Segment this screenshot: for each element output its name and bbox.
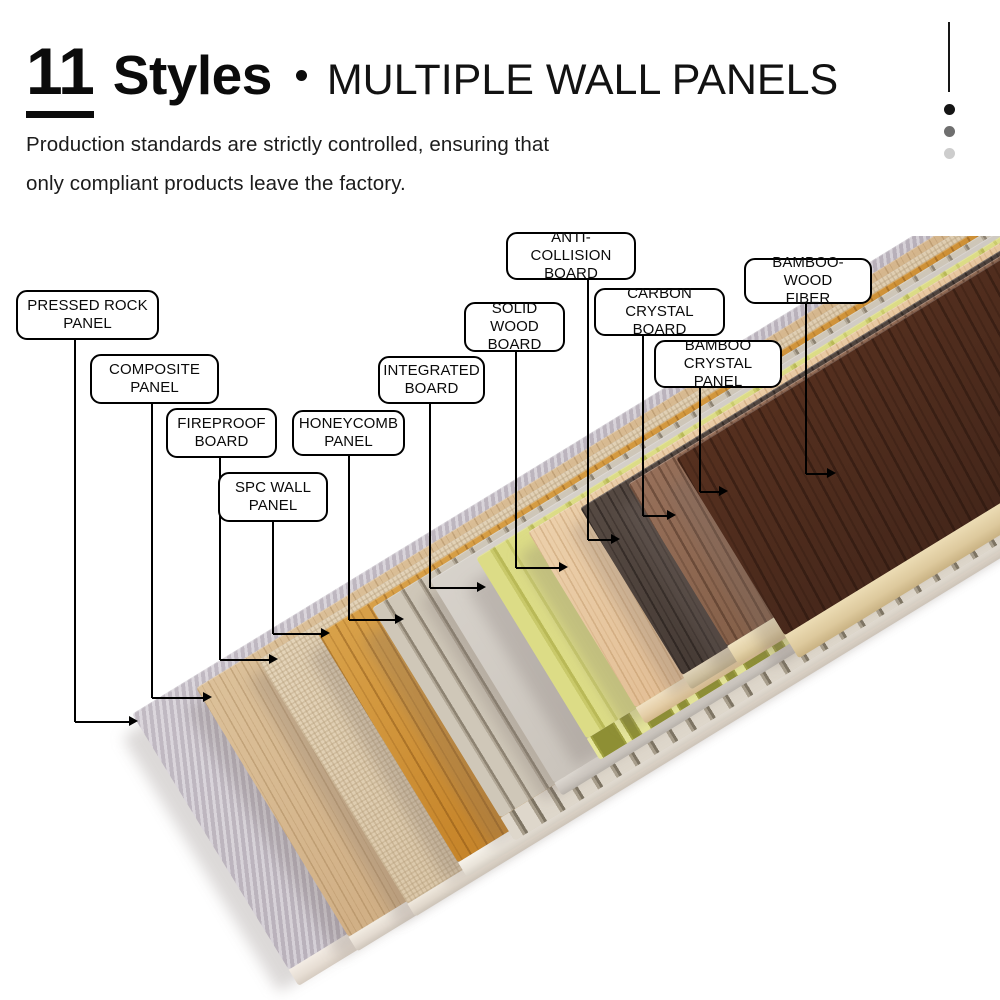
- callout-carbon-crystal-board[interactable]: CARBON CRYSTALBOARD: [594, 288, 725, 336]
- callout-label-line-2: PANEL: [299, 433, 398, 451]
- leader-arrowhead: [667, 510, 676, 520]
- count-underline: [26, 111, 94, 118]
- leader-arrowhead: [477, 582, 486, 592]
- header: 11 Styles MULTIPLE WALL PANELS Productio…: [0, 0, 1000, 210]
- page-title: 11 Styles MULTIPLE WALL PANELS: [26, 38, 838, 104]
- leader-arrowhead: [719, 486, 728, 496]
- decorative-dot-1: [944, 104, 955, 115]
- callout-label: HONEYCOMBPANEL: [294, 415, 403, 452]
- leader-arrowhead: [611, 534, 620, 544]
- callout-label: SOLID WOODBOARD: [466, 300, 563, 355]
- callout-label: FIREPROOFBOARD: [172, 415, 270, 452]
- leader-line-horizontal: [643, 515, 667, 517]
- leader-line-vertical: [74, 340, 76, 722]
- callout-label-line-1: CARBON CRYSTAL: [601, 285, 718, 322]
- subtitle-line-1: Production standards are strictly contro…: [26, 133, 549, 157]
- decorative-dots: [944, 22, 968, 182]
- leader-line-vertical: [587, 280, 589, 540]
- leader-arrowhead: [269, 654, 278, 664]
- callout-label-line-1: ANTI-COLLISION: [513, 229, 629, 266]
- style-count: 11: [26, 34, 94, 108]
- callout-label-line-1: SOLID WOOD: [471, 300, 558, 337]
- callout-label-line-2: BOARD: [513, 265, 629, 283]
- leader-arrowhead: [203, 692, 212, 702]
- leader-line-horizontal: [273, 633, 321, 635]
- leader-line-horizontal: [75, 721, 129, 723]
- callout-composite-panel[interactable]: COMPOSITEPANEL: [90, 354, 219, 404]
- callout-label: BAMBOO-WOODFIBER: [746, 254, 870, 309]
- callout-label-line-2: PANEL: [235, 497, 311, 515]
- callout-bamboo-wood-fiber[interactable]: BAMBOO-WOODFIBER: [744, 258, 872, 304]
- callout-label: PRESSED ROCKPANEL: [22, 297, 152, 334]
- decorative-dot-2: [944, 126, 955, 137]
- leader-arrowhead: [559, 562, 568, 572]
- leader-line-horizontal: [220, 659, 269, 661]
- callout-label: COMPOSITEPANEL: [104, 361, 205, 398]
- callout-label-line-1: HONEYCOMB: [299, 415, 398, 433]
- dot-separator-icon: [296, 70, 307, 81]
- callout-anti-collision-board[interactable]: ANTI-COLLISIONBOARD: [506, 232, 636, 280]
- leader-line-vertical: [805, 304, 807, 474]
- leader-line-horizontal: [806, 473, 827, 475]
- callout-label-line-2: BOARD: [383, 380, 480, 398]
- callout-label-line-1: PRESSED ROCK: [27, 297, 147, 315]
- style-count-wrap: 11: [26, 38, 94, 104]
- leader-line-horizontal: [516, 567, 559, 569]
- leader-line-vertical: [348, 456, 350, 620]
- leader-line-horizontal: [700, 491, 719, 493]
- leader-line-horizontal: [588, 539, 611, 541]
- callout-label: INTEGRATEDBOARD: [378, 362, 485, 399]
- subtitle-line-2: only compliant products leave the factor…: [26, 172, 406, 196]
- leader-arrowhead: [395, 614, 404, 624]
- callout-label-line-2: PANEL: [27, 315, 147, 333]
- leader-line-horizontal: [349, 619, 395, 621]
- leader-line-horizontal: [430, 587, 477, 589]
- callout-fireproof-board[interactable]: FIREPROOFBOARD: [166, 408, 277, 458]
- decorative-dot-3: [944, 148, 955, 159]
- leader-line-vertical: [429, 404, 431, 588]
- callout-label: SPC WALLPANEL: [230, 479, 316, 516]
- leader-line-vertical: [642, 336, 644, 516]
- callout-label-line-1: BAMBOO: [661, 337, 775, 355]
- callout-pressed-rock-panel[interactable]: PRESSED ROCKPANEL: [16, 290, 159, 340]
- callout-bamboo-crystal-panel[interactable]: BAMBOOCRYSTAL PANEL: [654, 340, 782, 388]
- callout-spc-wall-panel[interactable]: SPC WALLPANEL: [218, 472, 328, 522]
- leader-line-vertical: [272, 522, 274, 634]
- callout-label-line-1: SPC WALL: [235, 479, 311, 497]
- callout-label-line-2: BOARD: [177, 433, 265, 451]
- callout-label-line-2: CRYSTAL PANEL: [661, 355, 775, 392]
- callout-label-line-2: BOARD: [471, 336, 558, 354]
- callout-label-line-1: FIREPROOF: [177, 415, 265, 433]
- callout-label: BAMBOOCRYSTAL PANEL: [656, 337, 780, 392]
- callout-integrated-board[interactable]: INTEGRATEDBOARD: [378, 356, 485, 404]
- callout-solid-wood-board[interactable]: SOLID WOODBOARD: [464, 302, 565, 352]
- callout-label: CARBON CRYSTALBOARD: [596, 285, 723, 340]
- leader-line-vertical: [515, 352, 517, 568]
- callout-label-line-1: BAMBOO-WOOD: [751, 254, 865, 291]
- callout-label-line-2: PANEL: [109, 379, 200, 397]
- leader-arrowhead: [129, 716, 138, 726]
- leader-line-vertical: [151, 404, 153, 698]
- leader-line-horizontal: [152, 697, 203, 699]
- leader-line-vertical: [699, 388, 701, 492]
- callout-label: ANTI-COLLISIONBOARD: [508, 229, 634, 284]
- leader-arrowhead: [827, 468, 836, 478]
- headline: MULTIPLE WALL PANELS: [327, 59, 838, 102]
- callout-label-line-1: INTEGRATED: [383, 362, 480, 380]
- callout-label-line-2: FIBER: [751, 290, 865, 308]
- leader-arrowhead: [321, 628, 330, 638]
- styles-word: Styles: [113, 48, 272, 103]
- decorative-line: [948, 22, 950, 92]
- callout-label-line-1: COMPOSITE: [109, 361, 200, 379]
- callout-honeycomb-panel[interactable]: HONEYCOMBPANEL: [292, 410, 405, 456]
